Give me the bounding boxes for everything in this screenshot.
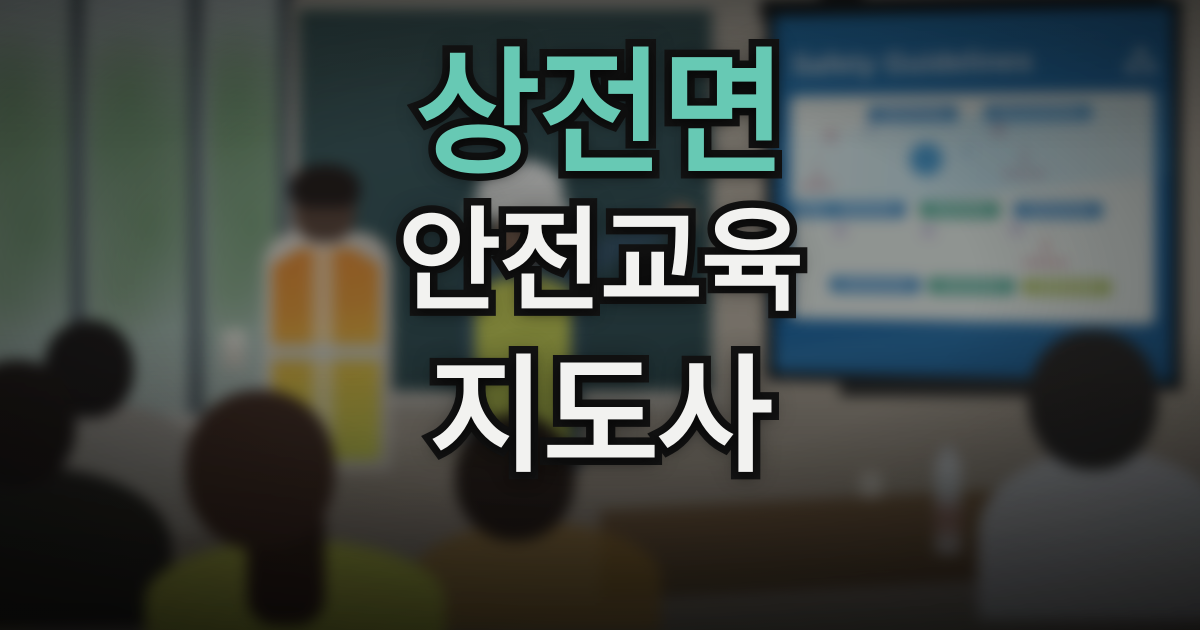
title-line-3: 지도사 [429, 354, 771, 480]
og-thumbnail-card: Safety Guidelines [0, 0, 1200, 630]
title-line-2: 안전교육 [398, 206, 802, 318]
title-line-1: 상전면 [415, 46, 784, 182]
title-stack: 상전면 안전교육 지도사 [0, 0, 1200, 630]
